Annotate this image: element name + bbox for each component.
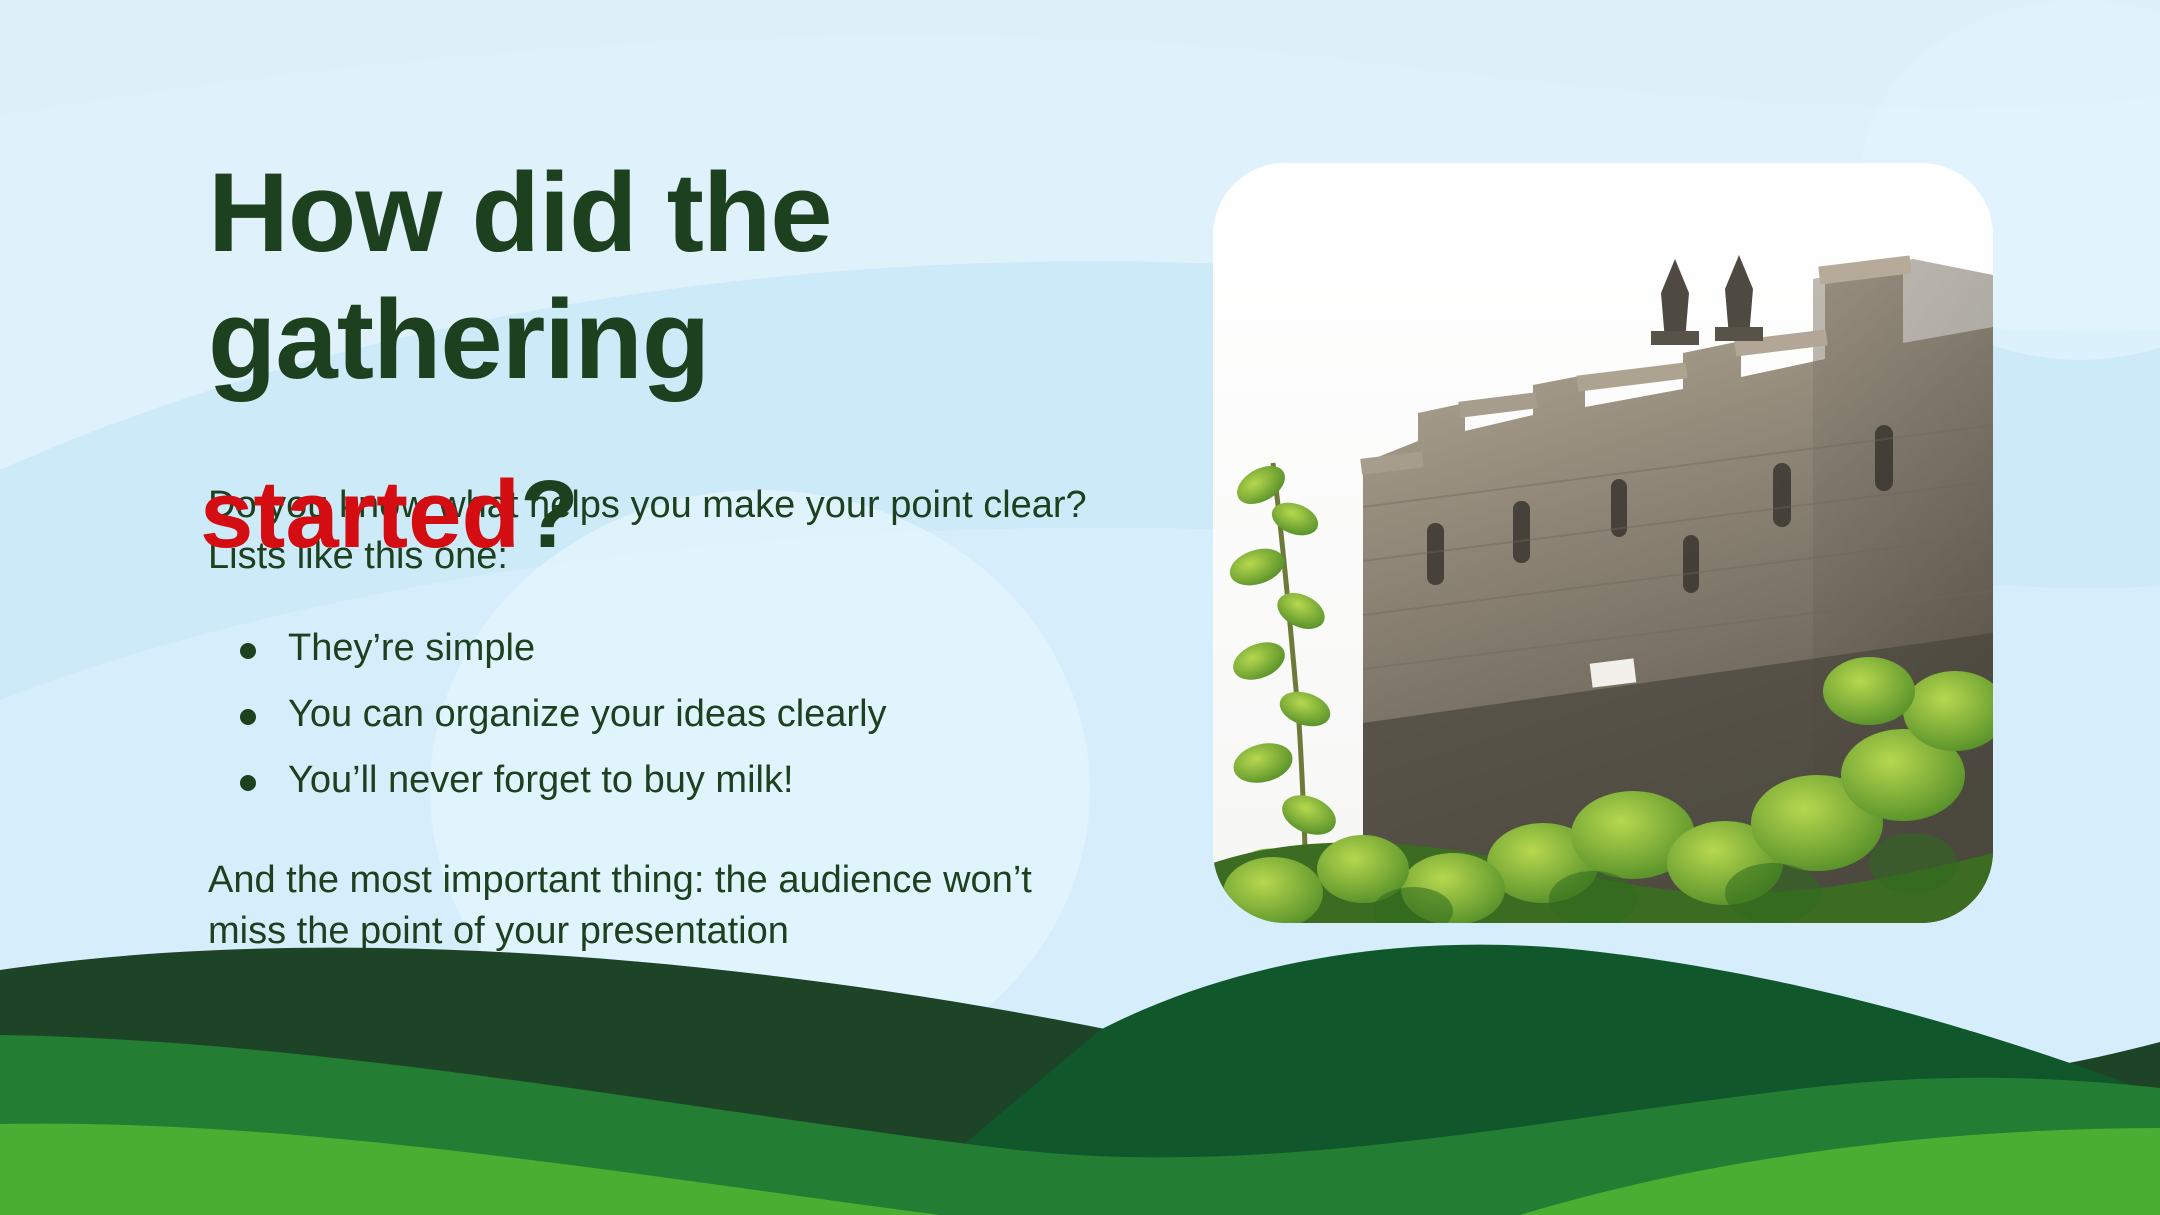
presentation-slide: How did the gathering Do you know what h… [0,0,2160,1215]
bullet-dot-icon [240,775,256,791]
overflow-word-label: started [200,461,520,568]
list-item-label: They’re simple [288,627,535,669]
bullet-list: They’re simple You can organize your ide… [208,629,1088,799]
title-overflow-word: started? [200,467,579,563]
list-item-label: You can organize your ideas clearly [288,693,887,735]
list-item-label: You’ll never forget to buy milk! [288,759,794,801]
bullet-dot-icon [240,643,256,659]
page-title: How did the gathering [208,150,968,403]
bullet-dot-icon [240,709,256,725]
title-line-2: gathering [208,277,709,402]
overflow-question-mark: ? [520,461,579,568]
list-item: You can organize your ideas clearly [208,695,1088,733]
title-line-1: How did the [208,150,832,275]
title-block: How did the gathering [208,150,1098,403]
list-item: You’ll never forget to buy milk! [208,761,1088,799]
photo-card [1213,163,1993,923]
list-item: They’re simple [208,629,1088,667]
castle-photo [1213,163,1993,923]
closing-paragraph: And the most important thing: the audien… [208,855,1038,956]
